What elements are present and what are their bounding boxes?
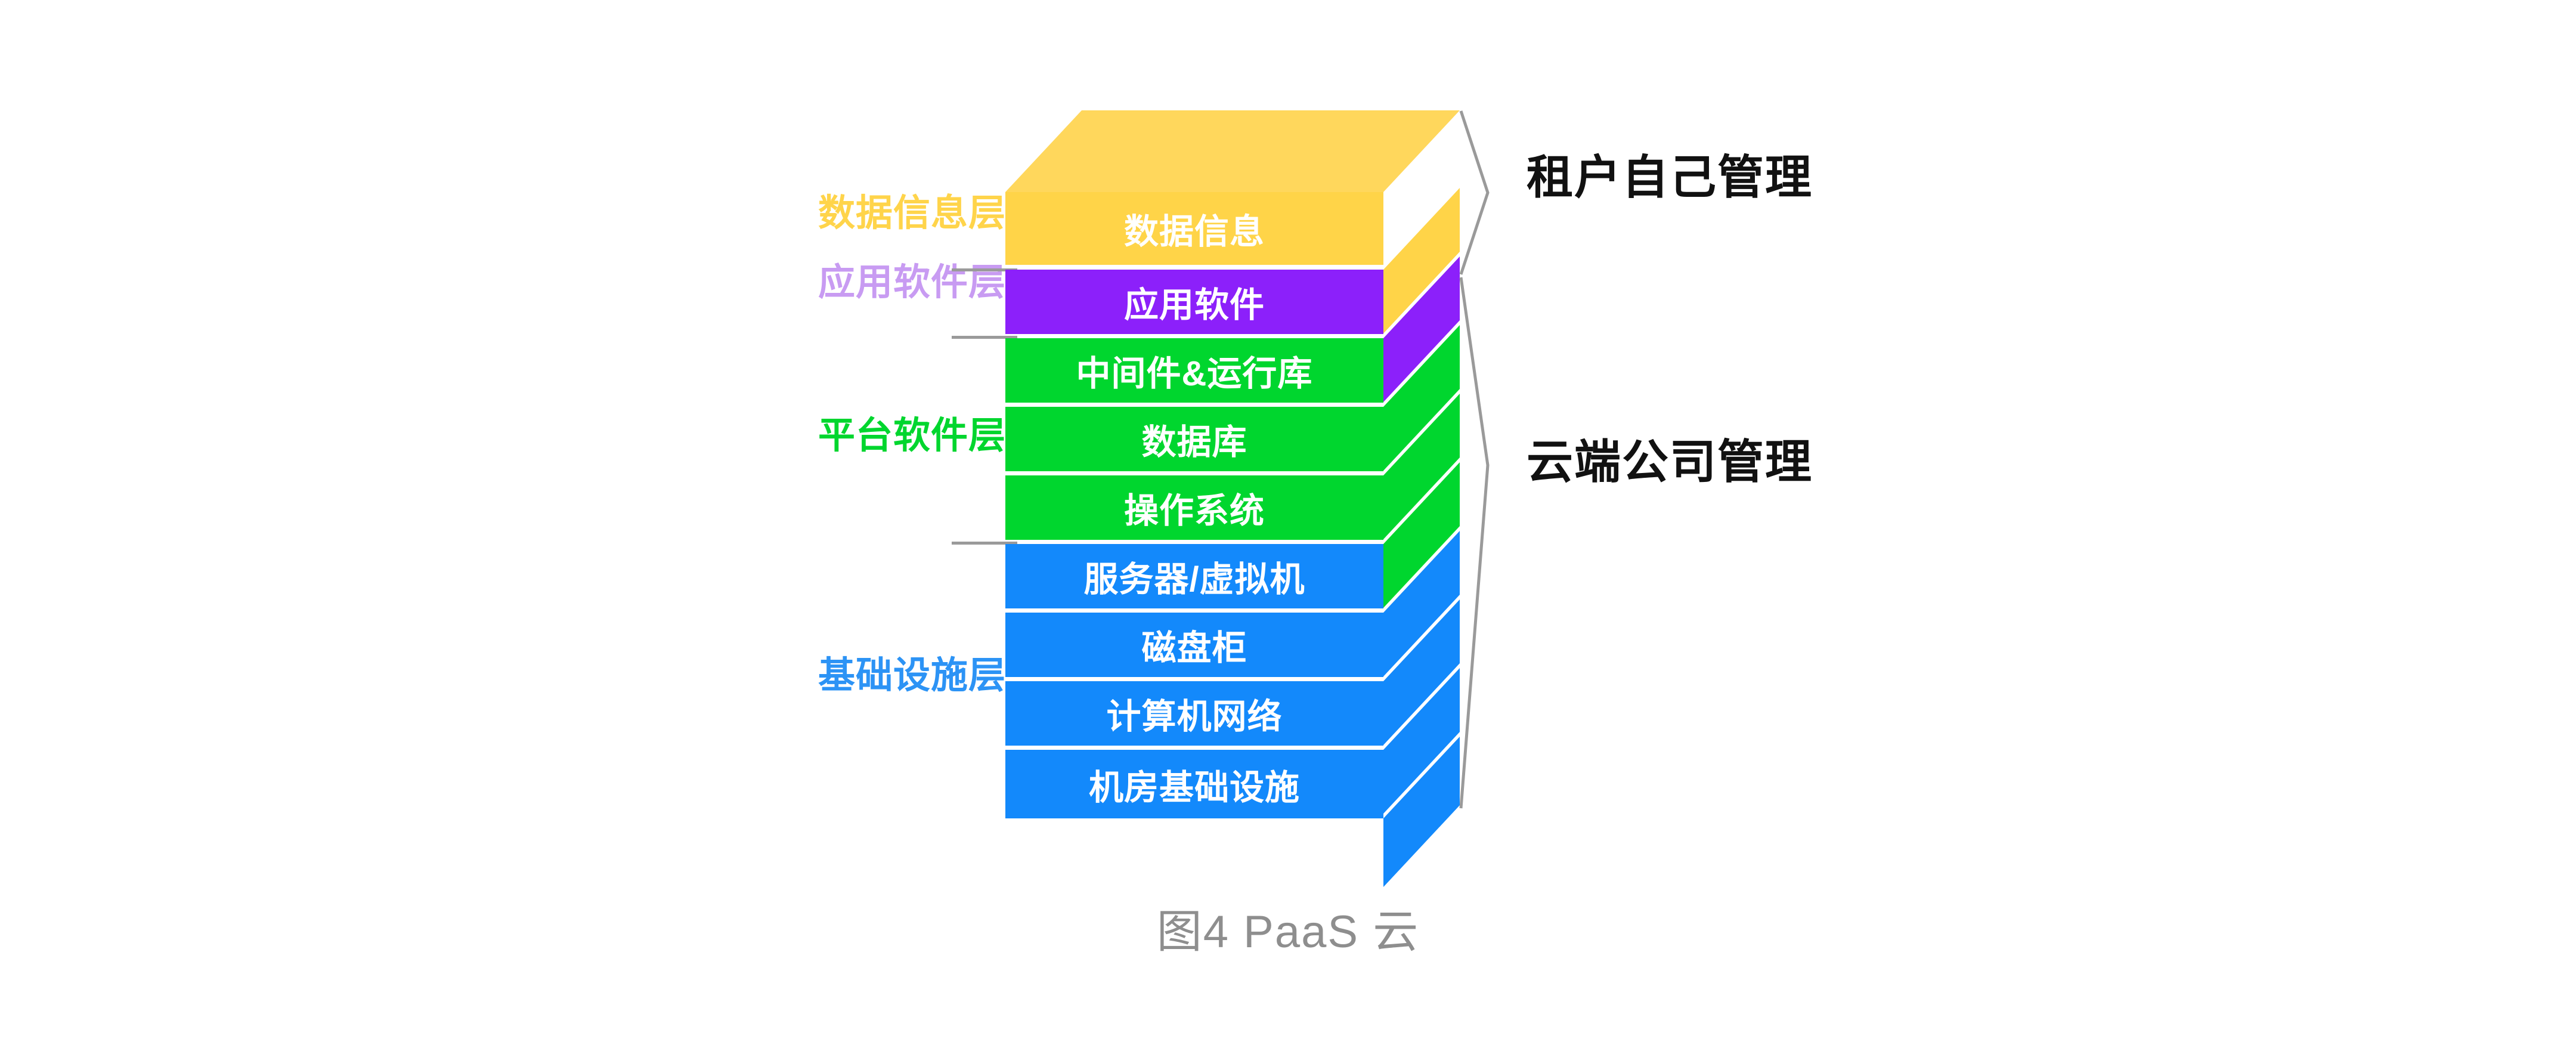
side-label-infrastructure-layer: 基础设施层 <box>818 657 1006 694</box>
side-face-9 <box>1383 737 1460 887</box>
stack-block-label: 应用软件 <box>1124 277 1265 327</box>
side-face-7 <box>1383 599 1460 745</box>
stack-block-label: 计算机网络 <box>1106 688 1282 738</box>
bracket-tenant <box>1461 111 1488 274</box>
stack-top-cap <box>1005 110 1460 192</box>
bracket-label-cloud-managed: 云端公司管理 <box>1527 438 1813 485</box>
stack-block-data-info[interactable]: 数据信息 <box>1005 192 1383 265</box>
side-face-4 <box>1383 394 1460 539</box>
stack-block-label: 操作系统 <box>1124 483 1265 533</box>
figure-canvas: 数据信息层 应用软件层 平台软件层 基础设施层 数据信息 应用软件 中间件&运行… <box>0 0 2576 1054</box>
side-face-6 <box>1383 531 1460 676</box>
side-label-platform-layer: 平台软件层 <box>818 418 1006 455</box>
figure-caption: 图4 PaaS 云 <box>0 895 2576 960</box>
side-label-data-layer: 数据信息层 <box>818 195 1006 232</box>
stack-side-faces <box>1383 188 1460 887</box>
stack-block-database[interactable]: 数据库 <box>1005 407 1383 471</box>
bracket-cloud <box>1461 277 1488 808</box>
bracket-connectors <box>1461 111 1488 808</box>
stack-block-label: 磁盘柜 <box>1141 620 1247 670</box>
side-face-2 <box>1383 256 1460 402</box>
side-face-1 <box>1383 188 1460 333</box>
stack-block-label: 数据信息 <box>1124 203 1265 254</box>
stack-block-middleware-runtime[interactable]: 中间件&运行库 <box>1005 338 1383 403</box>
stack-block-disk-array[interactable]: 磁盘柜 <box>1005 613 1383 677</box>
stack-block-label: 机房基础设施 <box>1089 759 1300 809</box>
stack-block-label: 服务器/虚拟机 <box>1083 551 1305 601</box>
stack-block-datacenter-facility[interactable]: 机房基础设施 <box>1005 750 1383 818</box>
side-face-5 <box>1383 462 1460 608</box>
stack-block-computer-network[interactable]: 计算机网络 <box>1005 681 1383 746</box>
stack-block-operating-system[interactable]: 操作系统 <box>1005 475 1383 540</box>
side-face-3 <box>1383 325 1460 471</box>
side-face-8 <box>1383 668 1460 814</box>
stack-block-server-vm[interactable]: 服务器/虚拟机 <box>1005 544 1383 608</box>
bracket-label-tenant-managed: 租户自己管理 <box>1527 154 1813 200</box>
stack-block-label: 数据库 <box>1141 414 1247 464</box>
stack-block-label: 中间件&运行库 <box>1076 345 1313 395</box>
stack-block-application-software[interactable]: 应用软件 <box>1005 270 1383 334</box>
